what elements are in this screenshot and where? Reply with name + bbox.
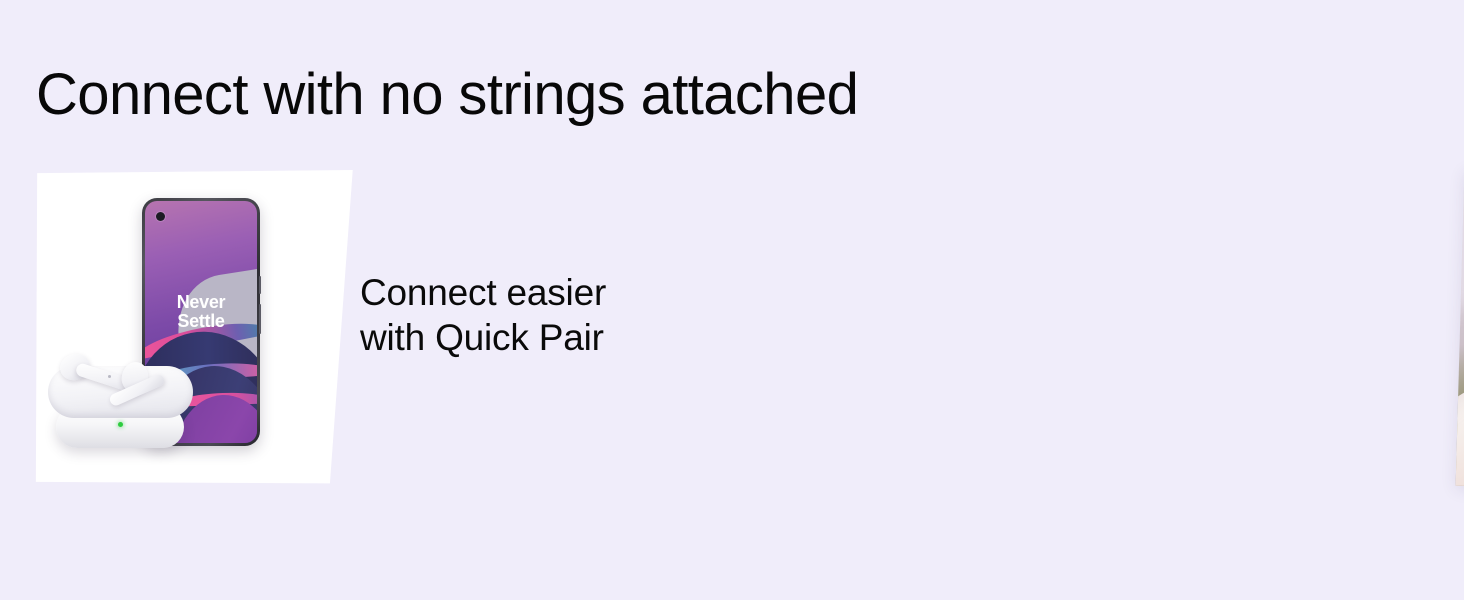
earbuds-case-image	[48, 352, 193, 448]
photo-background-wall	[1456, 168, 1464, 312]
feature-caption-quick-pair: Connect easier with Quick Pair	[360, 270, 606, 360]
lifestyle-photo	[1456, 168, 1464, 495]
phone-side-button-upper	[259, 276, 261, 294]
charging-led-indicator	[118, 422, 123, 427]
feature-quick-switch: Intuitive Quick switch	[720, 0, 1464, 600]
front-camera-icon	[156, 212, 165, 221]
earbud-microphone-dot	[108, 375, 111, 378]
wallpaper-slogan: Never Settle	[177, 293, 226, 331]
promo-banner: Connect with no strings attached Never S…	[0, 0, 1464, 600]
feature-quick-pair: Never Settle Connect easier with Quick P…	[0, 0, 700, 600]
phone-side-button-lower	[259, 304, 261, 334]
product-image-card: Never Settle	[30, 170, 356, 485]
